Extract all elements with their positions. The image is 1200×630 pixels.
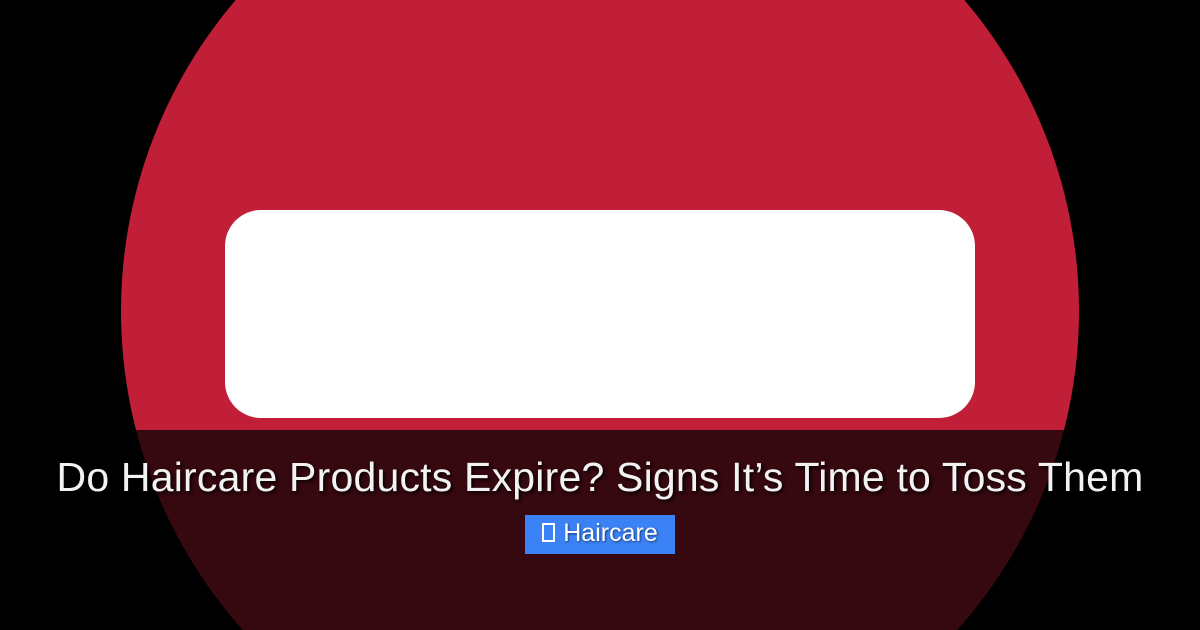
category-badge-label: Haircare <box>563 519 657 548</box>
page-title: Do Haircare Products Expire? Signs It’s … <box>0 448 1200 506</box>
logo-plate <box>225 210 975 418</box>
open-graph-card: Do Haircare Products Expire? Signs It’s … <box>0 0 1200 630</box>
category-badge[interactable]: Haircare <box>525 515 674 554</box>
text-block: Do Haircare Products Expire? Signs It’s … <box>0 448 1200 554</box>
missing-glyph-box-icon <box>542 523 555 542</box>
